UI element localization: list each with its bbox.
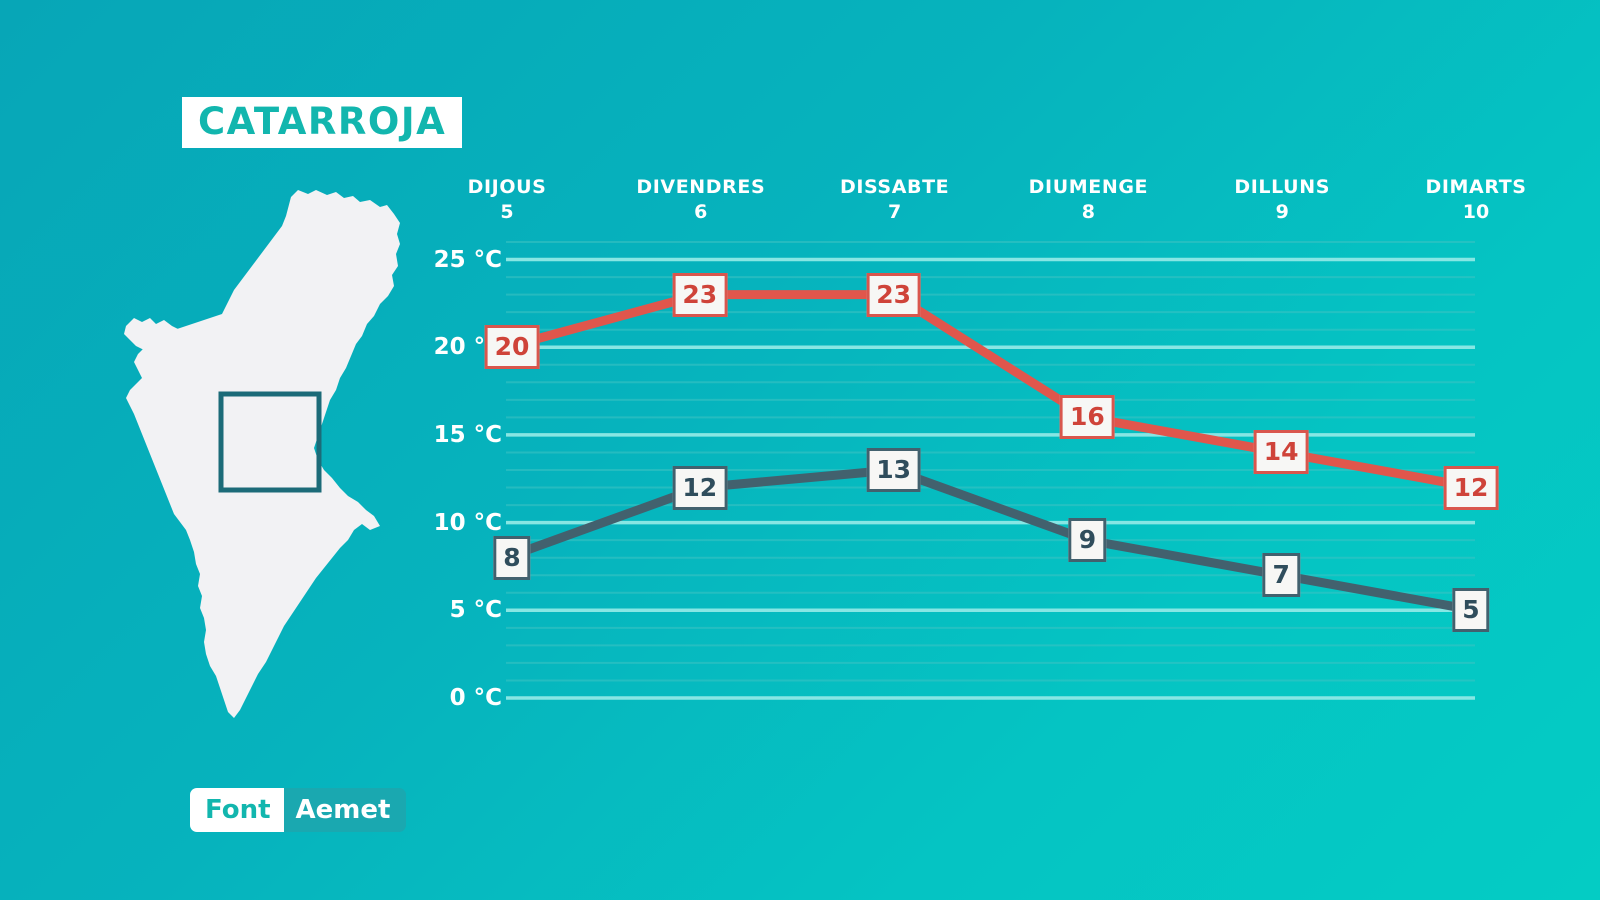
max-temp-marker: 23 — [672, 273, 727, 317]
max-temp-marker: 16 — [1060, 395, 1115, 439]
region-map-svg — [108, 178, 418, 768]
min-temp-marker: 12 — [672, 466, 727, 510]
max-temp-marker: 12 — [1444, 466, 1499, 510]
day-name: DIVENDRES — [636, 176, 765, 198]
day-column-header: DILLUNS9 — [1234, 176, 1330, 223]
day-column-header: DIVENDRES6 — [636, 176, 765, 223]
day-column-header: DIMARTS10 — [1425, 176, 1526, 223]
day-name: DIUMENGE — [1029, 176, 1148, 198]
max-temp-marker: 23 — [866, 273, 921, 317]
min-temp-marker: 13 — [866, 448, 921, 492]
series-polyline — [506, 295, 1475, 488]
day-column-header: DIJOUS5 — [468, 176, 547, 223]
min-temp-marker: 8 — [493, 536, 530, 580]
day-column-header: DIUMENGE8 — [1029, 176, 1148, 223]
day-number: 5 — [468, 201, 547, 223]
day-axis-header: DIJOUS5DIVENDRES6DISSABTE7DIUMENGE8DILLU… — [505, 168, 1490, 226]
day-number: 10 — [1425, 201, 1526, 223]
source-value: Aemet — [284, 788, 407, 832]
min-temp-marker: 9 — [1069, 518, 1106, 562]
source-label: Font — [190, 788, 284, 832]
max-temp-marker: 14 — [1254, 430, 1309, 474]
temperature-chart: DIJOUS5DIVENDRES6DISSABTE7DIUMENGE8DILLU… — [430, 168, 1490, 728]
chart-plot-area: 25 °C20 °C15 °C10 °C5 °C0 °C 81213975202… — [430, 230, 1490, 710]
day-name: DILLUNS — [1234, 176, 1330, 198]
valencian-community-shape — [126, 190, 400, 718]
day-number: 7 — [840, 201, 949, 223]
gridlines-major — [506, 260, 1475, 698]
day-number: 6 — [636, 201, 765, 223]
day-name: DISSABTE — [840, 176, 949, 198]
chart-lines-svg — [430, 230, 1490, 710]
day-column-header: DISSABTE7 — [840, 176, 949, 223]
day-name: DIJOUS — [468, 176, 547, 198]
series-line-max — [506, 295, 1475, 488]
region-map — [108, 178, 418, 768]
source-badge: Font Aemet — [190, 788, 406, 832]
day-name: DIMARTS — [1425, 176, 1526, 198]
max-temp-marker: 20 — [485, 325, 540, 369]
day-number: 8 — [1029, 201, 1148, 223]
min-temp-marker: 5 — [1452, 588, 1489, 632]
min-temp-marker: 7 — [1262, 553, 1299, 597]
day-number: 9 — [1234, 201, 1330, 223]
city-title-badge: CATARROJA — [182, 97, 462, 148]
page-title: CATARROJA — [198, 103, 446, 140]
